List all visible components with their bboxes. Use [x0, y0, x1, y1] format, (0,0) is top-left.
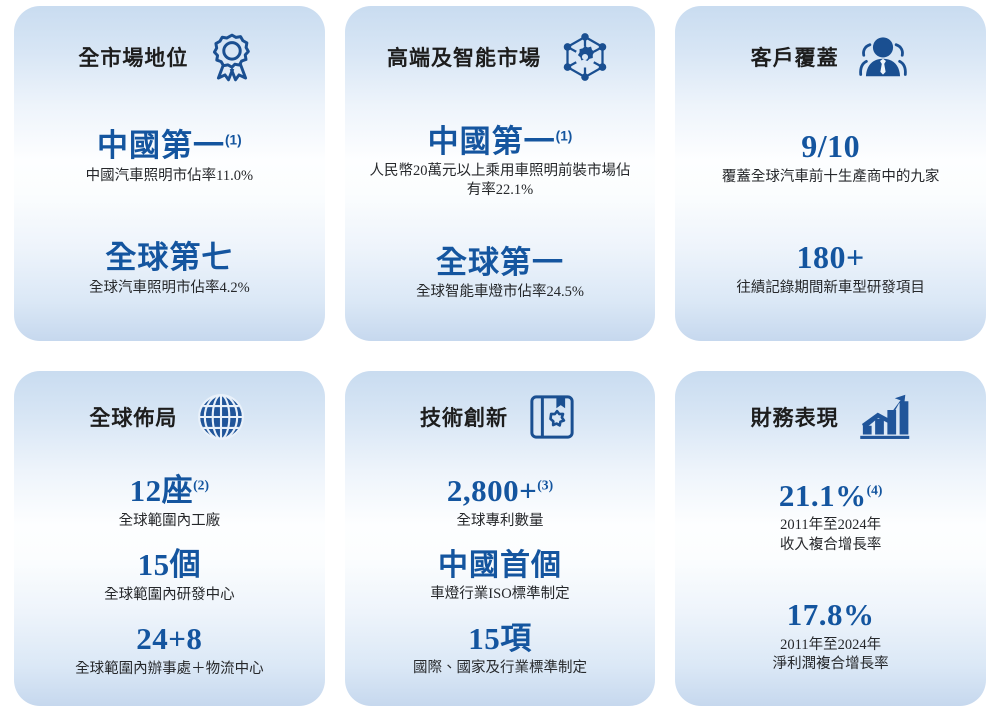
- card-title: 客戶覆蓋: [751, 42, 839, 72]
- stat-item: 9/10 覆蓋全球汽車前十生產商中的九家: [689, 129, 972, 187]
- stat-item: 15項 國際、國家及行業標準制定: [359, 622, 642, 679]
- stat-caption: 全球範圍內研發中心: [28, 586, 311, 605]
- card-technology-innovation: 技術創新 2,800+(3) 全球專利數量 中國首個 車燈行業ISO標: [345, 371, 656, 706]
- card-header: 高端及智能市場: [359, 6, 642, 102]
- card-header: 技術創新: [359, 371, 642, 457]
- stat-value: 中國第一(1): [28, 129, 311, 164]
- stat-value: 2,800+(3): [359, 474, 642, 509]
- stat-caption: 2011年至2024年淨利潤複合增長率: [689, 636, 972, 674]
- stat-item: 中國第一(1) 人民幣20萬元以上乘用車照明前裝市場佔有率22.1%: [359, 125, 642, 201]
- stat-item: 中國第一(1) 中國汽車照明市佔率11.0%: [28, 129, 311, 186]
- card-global-footprint: 全球佈局 12座(2): [14, 371, 325, 706]
- stat-value: 21.1%(4): [689, 479, 972, 514]
- award-badge-icon: [204, 29, 260, 85]
- stat-value: 中國第一(1): [359, 125, 642, 160]
- book-star-icon: [524, 389, 580, 445]
- stat-value: 12座(2): [28, 474, 311, 509]
- stat-caption: 全球汽車照明市佔率4.2%: [28, 279, 311, 298]
- stat-value: 中國首個: [359, 549, 642, 583]
- stat-caption: 車燈行業ISO標準制定: [359, 585, 642, 604]
- card-body: 21.1%(4) 2011年至2024年收入複合增長率 17.8% 2011年至…: [689, 457, 972, 706]
- card-title: 高端及智能市場: [387, 42, 541, 72]
- stat-item: 全球第七 全球汽車照明市佔率4.2%: [28, 241, 311, 298]
- growth-chart-icon: [855, 389, 911, 445]
- stat-superscript: (1): [225, 133, 242, 148]
- people-group-icon: [855, 29, 911, 85]
- card-body: 中國第一(1) 人民幣20萬元以上乘用車照明前裝市場佔有率22.1% 全球第一 …: [359, 102, 642, 341]
- card-customer-coverage: 客戶覆蓋 9/10: [675, 6, 986, 341]
- stat-value: 全球第一: [359, 246, 642, 281]
- hexagon-network-icon: [557, 29, 613, 85]
- stat-caption: 人民幣20萬元以上乘用車照明前裝市場佔有率22.1%: [359, 162, 642, 200]
- stat-value: 15項: [359, 622, 642, 657]
- stat-caption: 覆蓋全球汽車前十生產商中的九家: [689, 168, 972, 187]
- stat-superscript: (3): [537, 478, 553, 493]
- stat-value: 17.8%: [689, 598, 972, 633]
- stat-value: 9/10: [689, 129, 972, 165]
- stat-item: 180+ 往績記錄期間新車型研發項目: [689, 240, 972, 298]
- card-body: 2,800+(3) 全球專利數量 中國首個 車燈行業ISO標準制定 15項 國際…: [359, 457, 642, 706]
- stat-caption: 全球智能車燈市佔率24.5%: [359, 283, 642, 302]
- card-header: 全市場地位: [28, 6, 311, 102]
- card-financial-performance: 財務表現 21.1%(4) 2011年至2024年收入複合增長率: [675, 371, 986, 706]
- stat-superscript: (4): [867, 482, 883, 497]
- card-title: 全市場地位: [78, 42, 188, 72]
- card-body: 中國第一(1) 中國汽車照明市佔率11.0% 全球第七 全球汽車照明市佔率4.2…: [28, 102, 311, 341]
- stat-caption: 全球範圍內工廠: [28, 512, 311, 531]
- card-header: 客戶覆蓋: [689, 6, 972, 102]
- stat-item: 24+8 全球範圍內辦事處＋物流中心: [28, 622, 311, 679]
- stat-caption: 國際、國家及行業標準制定: [359, 659, 642, 678]
- stat-caption: 往績記錄期間新車型研發項目: [689, 279, 972, 298]
- stat-item: 全球第一 全球智能車燈市佔率24.5%: [359, 246, 642, 303]
- stat-item: 中國首個 車燈行業ISO標準制定: [359, 549, 642, 605]
- globe-icon: [193, 389, 249, 445]
- stat-value: 24+8: [28, 622, 311, 657]
- card-market-position: 全市場地位 中國第一(1) 中國汽車照明市佔率11.0% 全球第七: [14, 6, 325, 341]
- stat-item: 21.1%(4) 2011年至2024年收入複合增長率: [689, 479, 972, 555]
- stat-value: 全球第七: [28, 241, 311, 276]
- stat-item: 2,800+(3) 全球專利數量: [359, 474, 642, 531]
- stat-item: 15個 全球範圍內研發中心: [28, 548, 311, 605]
- stat-caption: 2011年至2024年收入複合增長率: [689, 516, 972, 554]
- stat-item: 12座(2) 全球範圍內工廠: [28, 474, 311, 531]
- card-header: 全球佈局: [28, 371, 311, 457]
- stat-caption: 全球專利數量: [359, 512, 642, 531]
- card-header: 財務表現: [689, 371, 972, 457]
- stat-value: 180+: [689, 240, 972, 276]
- card-premium-intelligent-market: 高端及智能市場: [345, 6, 656, 341]
- card-title: 財務表現: [751, 402, 839, 432]
- stat-item: 17.8% 2011年至2024年淨利潤複合增長率: [689, 598, 972, 674]
- stat-caption: 全球範圍內辦事處＋物流中心: [28, 660, 311, 679]
- stat-caption: 中國汽車照明市佔率11.0%: [28, 167, 311, 186]
- stat-superscript: (1): [556, 128, 573, 143]
- stat-superscript: (2): [193, 478, 209, 493]
- card-title: 全球佈局: [89, 402, 177, 432]
- highlights-board: 全市場地位 中國第一(1) 中國汽車照明市佔率11.0% 全球第七: [0, 0, 1000, 714]
- stat-value: 15個: [28, 548, 311, 583]
- card-title: 技術創新: [420, 402, 508, 432]
- card-body: 9/10 覆蓋全球汽車前十生產商中的九家 180+ 往績記錄期間新車型研發項目: [689, 102, 972, 341]
- card-body: 12座(2) 全球範圍內工廠 15個 全球範圍內研發中心 24+8 全球範圍內辦…: [28, 457, 311, 706]
